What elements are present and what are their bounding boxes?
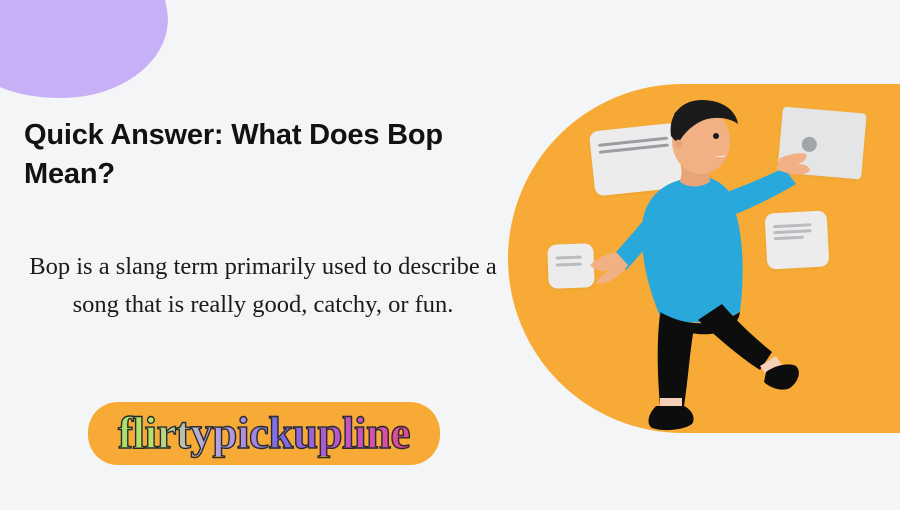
site-logo-text: flirtypickupline [118,411,410,456]
site-logo-badge[interactable]: flirtypickupline [88,402,440,465]
person-illustration [508,84,900,433]
page-canvas: Quick Answer: What Does Bop Mean? Bop is… [0,0,900,510]
description-text: Bop is a slang term primarily used to de… [18,248,508,324]
left-shoe [649,406,694,430]
page-title: Quick Answer: What Does Bop Mean? [24,116,524,193]
shirt-torso [642,178,743,323]
eye [713,133,719,139]
illustration-container [508,84,900,433]
